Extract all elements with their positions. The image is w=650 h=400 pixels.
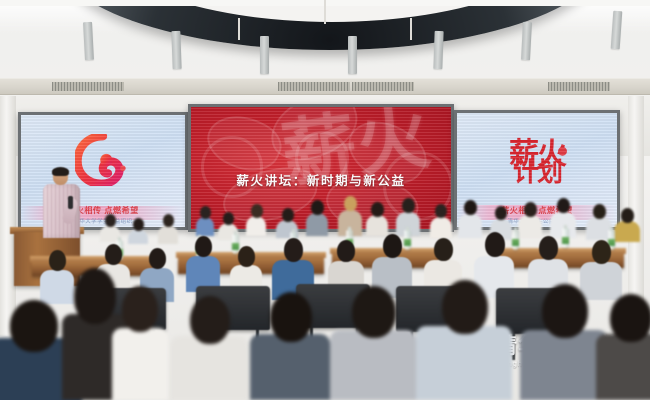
person-head (435, 204, 447, 218)
audience-person (306, 200, 328, 236)
person-head (593, 204, 606, 219)
person-head (442, 280, 488, 334)
audience-person (330, 286, 416, 400)
wall-fin (611, 11, 623, 50)
ceiling-mullion (324, 0, 326, 24)
person-head (238, 246, 255, 267)
person-head (282, 208, 294, 222)
person-head (464, 200, 477, 215)
person-head (524, 202, 537, 217)
person-head (195, 236, 212, 257)
audience-person (520, 284, 608, 400)
person-torso (196, 217, 214, 236)
grille-vent (52, 82, 124, 91)
person-head (383, 234, 402, 258)
wall-fin (171, 31, 181, 69)
person-head (223, 212, 234, 225)
grille-vent (548, 82, 610, 91)
wall-fin (433, 31, 443, 69)
audience-person (128, 218, 148, 244)
person-torso (520, 330, 608, 400)
audience-person (430, 204, 452, 238)
person-torso (330, 330, 416, 400)
person-head (402, 198, 415, 213)
person-torso (128, 229, 148, 244)
swirl-heart-logo-icon (75, 134, 131, 186)
person-head (542, 284, 588, 338)
ceiling-mullion (238, 18, 240, 40)
person-head (371, 202, 384, 217)
person-head (284, 238, 303, 262)
audience-person (614, 208, 640, 242)
audience-person (596, 294, 650, 400)
person-torso (518, 215, 542, 238)
audience-child (110, 286, 170, 400)
person-head (105, 244, 122, 265)
person-head (557, 198, 570, 213)
person-torso (170, 336, 248, 400)
person-head (344, 196, 357, 211)
handheld-microphone-icon (68, 196, 73, 209)
person-head (10, 300, 58, 352)
person-head (337, 240, 355, 262)
person-torso (416, 326, 512, 400)
person-head (621, 208, 634, 223)
person-head (539, 236, 558, 260)
audience-person (100, 214, 120, 242)
wall-fin (260, 36, 269, 74)
speaker-person (42, 168, 82, 238)
person-head (163, 214, 174, 227)
wall-fin (83, 22, 94, 60)
xinhuo-plan-mark-icon: 薪火 计划 (509, 141, 565, 186)
grille-vent (278, 82, 350, 91)
grille-vent (352, 82, 414, 91)
photo-canvas: 薪火相传 点燃希望 清华大学学生公益组织 薪火 薪火讲坛：新时期与新公益 薪火 … (0, 0, 650, 400)
audience-person (416, 280, 512, 400)
person-torso (246, 216, 266, 236)
audience-person (366, 202, 388, 236)
center-screen-title: 薪火讲坛：新时期与新公益 (191, 170, 451, 189)
ceiling-mullion (410, 18, 412, 40)
person-head (149, 248, 166, 269)
person-torso (158, 225, 178, 244)
mark-line-2: 计划 (509, 162, 565, 186)
person-head (311, 200, 324, 215)
person-head (122, 286, 158, 332)
audience-person (246, 204, 266, 236)
wall-grille-band (0, 78, 650, 95)
person-head (190, 296, 230, 344)
person-torso (430, 217, 452, 238)
person-torso (596, 334, 650, 400)
person-head (495, 206, 507, 220)
person-torso (366, 215, 388, 236)
person-head (434, 238, 453, 261)
person-torso (112, 328, 168, 400)
person-torso (306, 213, 328, 236)
audience-person (250, 292, 330, 400)
audience-person (196, 206, 214, 236)
person-head (592, 240, 611, 264)
audience-person (518, 202, 542, 238)
person-head (105, 214, 116, 227)
person-head (133, 218, 144, 231)
audience-person (170, 296, 248, 400)
audience-person (186, 236, 220, 292)
wall-fin (348, 36, 357, 74)
person-head (352, 286, 396, 338)
speaker-hair (52, 167, 69, 176)
person-head (200, 206, 211, 219)
mark-accent-dot-icon (558, 147, 567, 156)
wall-fin (521, 22, 532, 60)
person-head (485, 232, 505, 257)
person-head (610, 294, 650, 342)
person-head (270, 292, 312, 342)
audience-person (158, 214, 178, 244)
person-head (251, 204, 263, 218)
person-torso (614, 221, 640, 242)
person-torso (250, 334, 330, 400)
